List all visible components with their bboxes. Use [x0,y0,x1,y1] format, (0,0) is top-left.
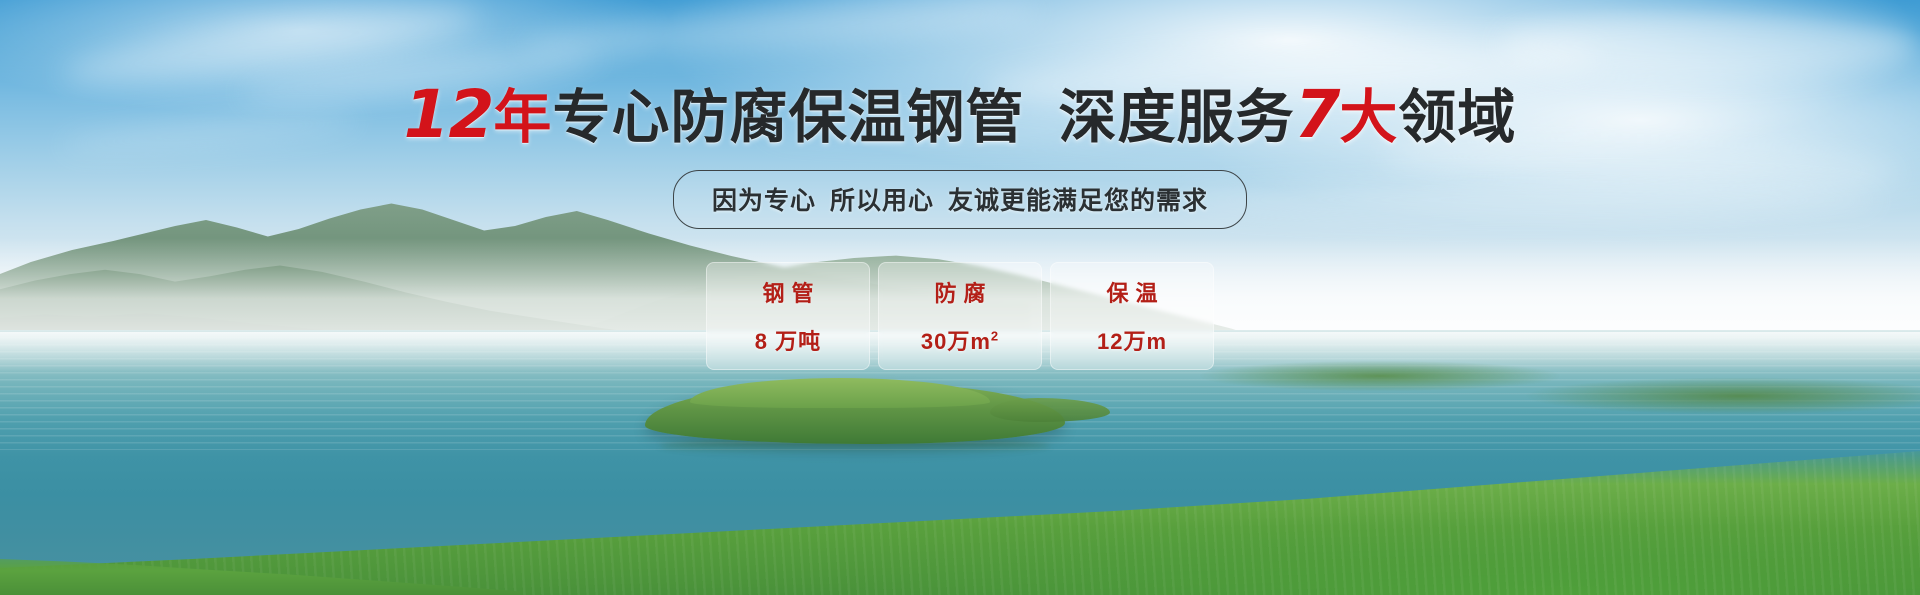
stat-card-value: 8 万吨 [755,324,821,356]
stat-value-unit: 万吨 [775,329,821,354]
stat-card-insulation: 保温 12万m [1050,262,1214,370]
banner-subtitle-wrap: 因为专心所以用心友诚更能满足您的需求 [0,170,1920,229]
headline-years-number: 12 [404,76,494,153]
headline-fields-text: 领域 [1398,83,1516,151]
headline-service-text: 深度服务 [1058,83,1294,151]
stat-value-unit: 万m [947,329,991,354]
subtitle-part-3: 友诚更能满足您的需求 [948,187,1208,215]
stat-card-value: 30万m2 [921,324,999,356]
banner-content: 12年专心防腐保温钢管深度服务7大领域 因为专心所以用心友诚更能满足您的需求 钢… [0,0,1920,595]
stat-card-title: 防腐 [927,276,992,308]
subtitle-part-2: 所以用心 [830,187,934,215]
stat-cards: 钢管 8 万吨 防腐 30万m2 保温 12万m [0,262,1920,370]
stat-value-unit: 万m [1123,329,1167,354]
headline-years-unit: 年 [493,83,552,151]
stat-value-number: 30 [921,329,947,354]
stat-card-title: 保温 [1099,276,1164,308]
stat-value-number: 12 [1097,329,1123,354]
subtitle-part-1: 因为专心 [712,187,816,215]
headline-fields-number: 7 [1294,76,1339,153]
stat-card-steel-pipe: 钢管 8 万吨 [706,262,870,370]
stat-value-superscript: 2 [991,329,999,344]
headline-main-text: 专心防腐保温钢管 [552,83,1024,151]
stat-card-value: 12万m [1097,324,1167,356]
stat-card-anticorrosion: 防腐 30万m2 [878,262,1042,370]
banner-headline: 12年专心防腐保温钢管深度服务7大领域 [0,82,1920,148]
stat-value-number: 8 [755,329,768,354]
headline-fields-unit: 大 [1339,83,1398,151]
hero-banner: 12年专心防腐保温钢管深度服务7大领域 因为专心所以用心友诚更能满足您的需求 钢… [0,0,1920,595]
stat-card-title: 钢管 [755,276,820,308]
banner-subtitle-pill: 因为专心所以用心友诚更能满足您的需求 [673,170,1247,229]
